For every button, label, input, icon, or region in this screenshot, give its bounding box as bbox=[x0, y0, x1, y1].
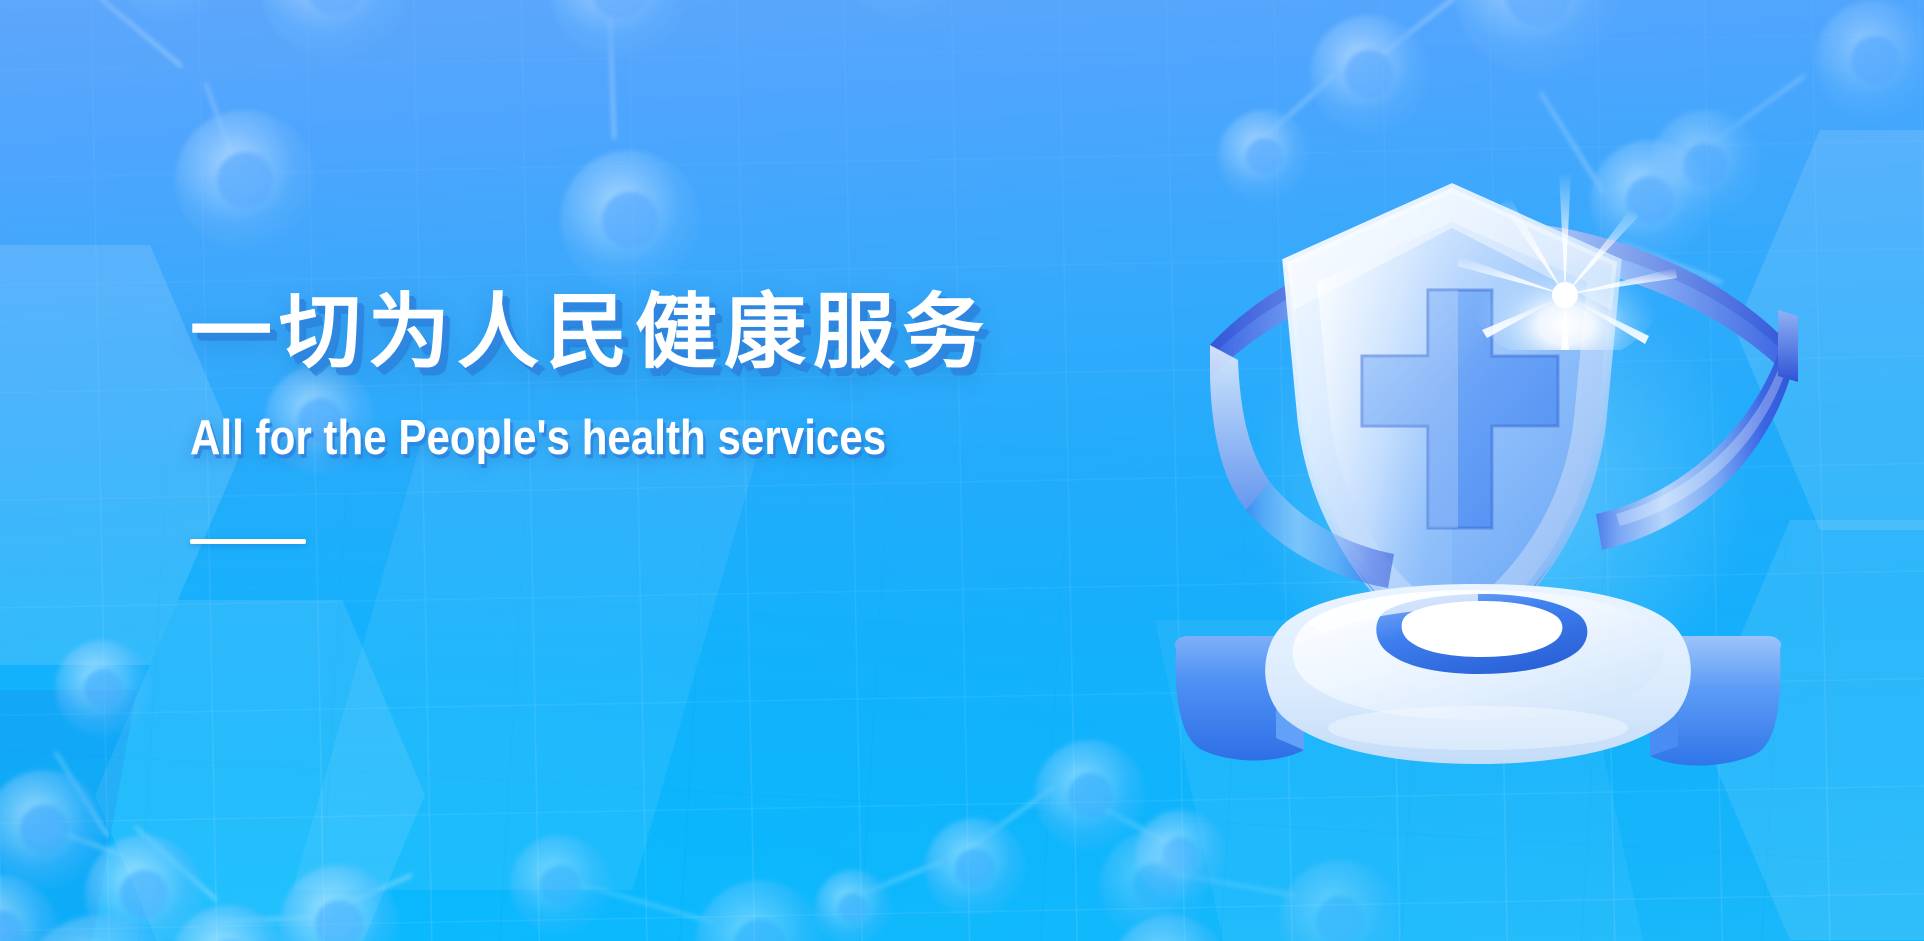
molecule-structure-icon bbox=[0, 660, 520, 941]
molecule-structure-icon bbox=[290, 0, 750, 290]
page-title: 一切为人民健康服务 bbox=[190, 292, 1000, 374]
hexagon-icon bbox=[95, 600, 425, 941]
molecule-structure-icon bbox=[20, 0, 440, 290]
molecule-structure-icon bbox=[1100, 800, 1520, 941]
divider bbox=[190, 539, 306, 544]
molecule-structure-icon bbox=[500, 790, 960, 941]
shield-illustration bbox=[1150, 110, 1850, 700]
glass-pedestal-icon bbox=[1158, 578, 1798, 818]
health-banner: 一切为人民健康服务 All for the People's health se… bbox=[0, 0, 1924, 941]
angled-band bbox=[0, 690, 136, 941]
banner-copy: 一切为人民健康服务 All for the People's health se… bbox=[190, 292, 1000, 544]
page-subtitle: All for the People's health services bbox=[190, 374, 886, 463]
